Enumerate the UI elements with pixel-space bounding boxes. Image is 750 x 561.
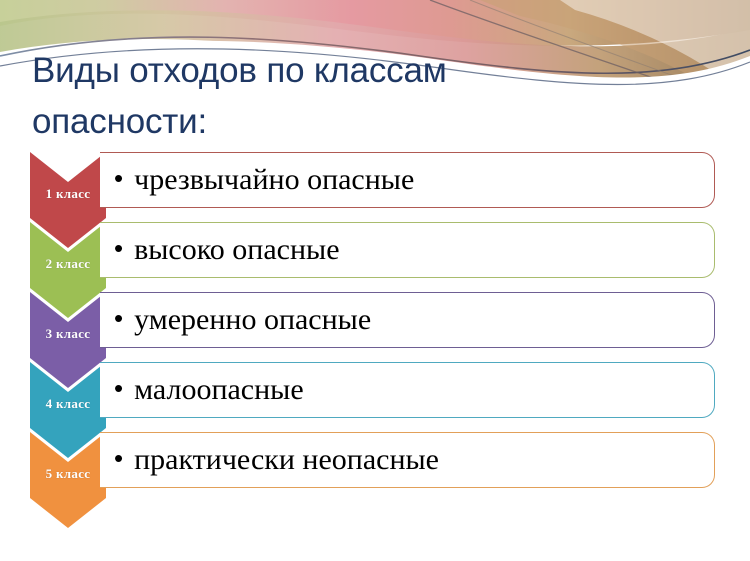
class-text-box-2[interactable]: • высоко опасные	[100, 222, 715, 278]
class-text-1: чрезвычайно опасные	[134, 163, 714, 197]
class-text-3: умеренно опасные	[134, 303, 714, 337]
class-text-2: высоко опасные	[134, 233, 714, 267]
class-badge-label-4: 4 класс	[30, 396, 106, 412]
class-badge-label-1: 1 класс	[30, 186, 106, 202]
slide-canvas: Виды отходов по классам опасности: 1 кла…	[0, 0, 750, 561]
hazard-class-list: 1 класс • чрезвычайно опасные 2 класс • …	[0, 148, 750, 548]
class-chevron-5: 5 класс	[30, 428, 106, 528]
class-badge-label-2: 2 класс	[30, 256, 106, 272]
swoosh-band-top	[0, 0, 750, 46]
class-text-box-4[interactable]: • малоопасные	[100, 362, 715, 418]
class-text-5: практически неопасные	[134, 443, 714, 477]
class-text-box-5[interactable]: • практически неопасные	[100, 432, 715, 488]
page-title: Виды отходов по классам опасности:	[32, 45, 632, 147]
class-badge-label-5: 5 класс	[30, 466, 106, 482]
class-text-box-1[interactable]: • чрезвычайно опасные	[100, 152, 715, 208]
class-text-4: малоопасные	[134, 373, 714, 407]
hazard-class-row-5[interactable]: 5 класс • практически неопасные	[0, 428, 750, 528]
class-text-box-3[interactable]: • умеренно опасные	[100, 292, 715, 348]
class-badge-label-3: 3 класс	[30, 326, 106, 342]
